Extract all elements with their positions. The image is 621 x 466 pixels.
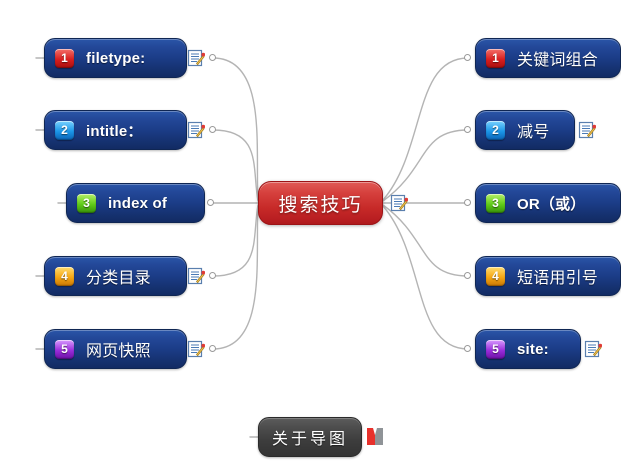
topic-number-badge: 3 [486, 194, 505, 213]
topic-label: index of [108, 195, 167, 212]
wire-left-5 [213, 206, 258, 349]
wire-right-5 [383, 206, 468, 349]
note-icon[interactable] [584, 340, 602, 358]
topic-label: filetype: [86, 50, 145, 67]
note-icon[interactable] [390, 194, 408, 212]
topic-node-right-5[interactable]: 5 site: [475, 329, 581, 369]
note-icon[interactable] [187, 49, 205, 67]
topic-node-right-2[interactable]: 2 减号 [475, 110, 575, 150]
branch-endpoint [464, 345, 471, 352]
topic-number-badge: 5 [55, 340, 74, 359]
topic-number-badge: 3 [77, 194, 96, 213]
wire-left-2 [213, 130, 258, 201]
topic-node-right-1[interactable]: 1 关键词组合 [475, 38, 621, 78]
topic-node-left-5[interactable]: 5 网页快照 [44, 329, 187, 369]
topic-number-badge: 5 [486, 340, 505, 359]
wire-right-1 [383, 58, 468, 200]
branch-endpoint [464, 272, 471, 279]
branch-endpoint [209, 345, 216, 352]
branch-endpoint [464, 199, 471, 206]
note-icon[interactable] [187, 340, 205, 358]
note-icon[interactable] [578, 121, 596, 139]
topic-number-badge: 1 [55, 49, 74, 68]
branch-endpoint [209, 126, 216, 133]
wire-right-2 [383, 130, 468, 201]
about-map-label: 关于导图 [272, 425, 348, 449]
topic-node-right-4[interactable]: 4 短语用引号 [475, 256, 621, 296]
topic-label: 短语用引号 [517, 264, 598, 288]
mindmanager-logo-icon [366, 426, 384, 446]
topic-number-badge: 4 [486, 267, 505, 286]
branch-endpoint [209, 54, 216, 61]
topic-node-left-1[interactable]: 1 filetype: [44, 38, 187, 78]
branch-endpoint [464, 126, 471, 133]
topic-label: 减号 [517, 118, 549, 142]
topic-label: site: [517, 341, 549, 358]
central-topic-node[interactable]: 搜索技巧 [258, 181, 383, 225]
note-icon[interactable] [187, 121, 205, 139]
topic-number-badge: 2 [486, 121, 505, 140]
branch-endpoint [464, 54, 471, 61]
wire-left-4 [213, 205, 258, 276]
topic-node-left-2[interactable]: 2 intitle： [44, 110, 187, 150]
topic-node-right-3[interactable]: 3 OR（或） [475, 183, 621, 223]
note-icon[interactable] [187, 267, 205, 285]
topic-label: 分类目录 [86, 264, 151, 288]
central-topic-label: 搜索技巧 [259, 190, 383, 217]
branch-endpoint [207, 199, 214, 206]
topic-node-left-4[interactable]: 4 分类目录 [44, 256, 187, 296]
topic-label: intitle： [86, 120, 143, 141]
branch-endpoint [209, 272, 216, 279]
topic-number-badge: 1 [486, 49, 505, 68]
mindmap-canvas: 1 filetype: 2 intitle： 3 index of 4 分类目录 [0, 0, 621, 466]
topic-number-badge: 2 [55, 121, 74, 140]
topic-node-left-3[interactable]: 3 index of [66, 183, 205, 223]
about-map-button[interactable]: 关于导图 [258, 417, 362, 457]
wire-right-4 [383, 205, 468, 276]
topic-number-badge: 4 [55, 267, 74, 286]
wire-left-1 [213, 58, 258, 200]
topic-label: 关键词组合 [517, 46, 598, 70]
topic-label: OR（或） [517, 193, 586, 214]
topic-label: 网页快照 [86, 337, 151, 361]
